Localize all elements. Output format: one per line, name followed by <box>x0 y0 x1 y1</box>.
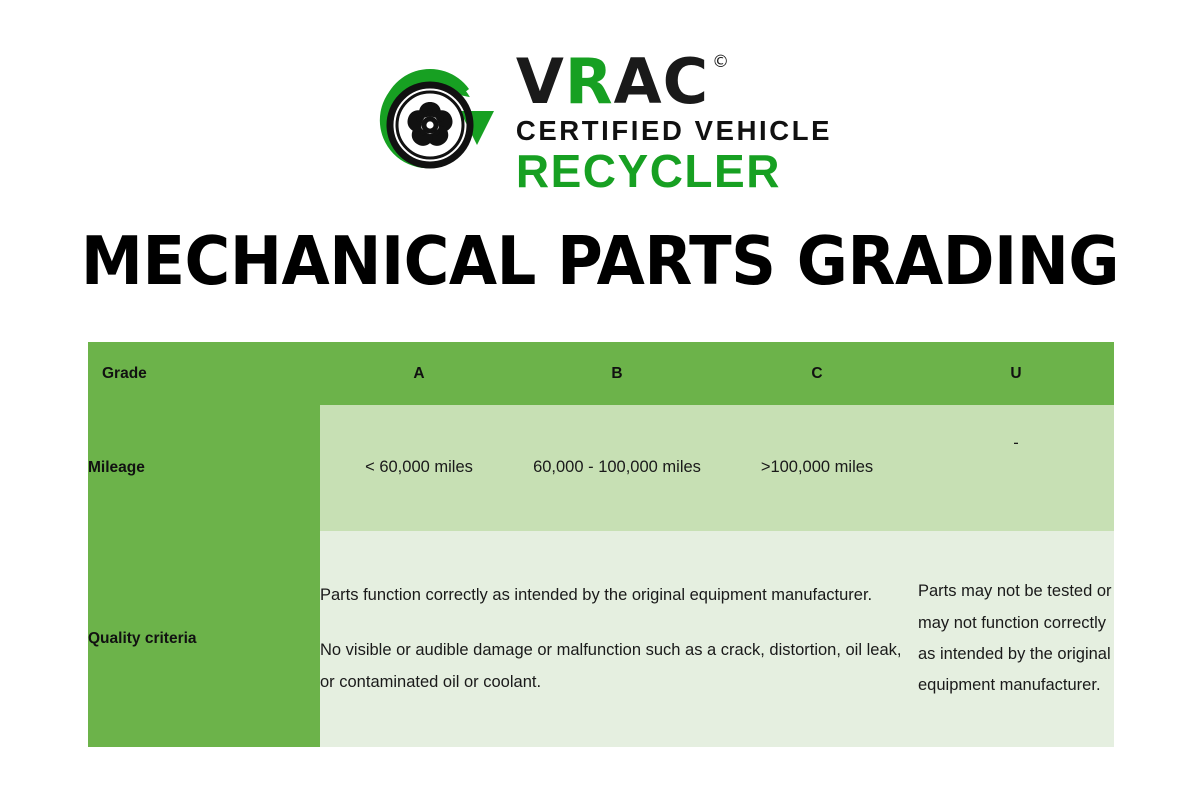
mileage-cell-a: < 60,000 miles <box>320 405 518 531</box>
logo-wordmark: V R A C © <box>516 52 832 112</box>
mechanical-parts-grading-table: Grade A B C U Mileage < 60,000 miles 60,… <box>88 342 1114 747</box>
mileage-cell-b: 60,000 - 100,000 miles <box>518 405 716 531</box>
logo-wordmark-group: V R A C © CERTIFIED VEHICLE RECYCLER <box>516 52 832 193</box>
table-header-row: Grade A B C U <box>88 342 1114 405</box>
logo-inner: V R A C © CERTIFIED VEHICLE RECYCLER <box>368 52 832 193</box>
table-row-quality-criteria: Quality criteria Parts function correctl… <box>88 531 1114 747</box>
logo-letter-v: V <box>516 52 565 112</box>
header-cell-u: U <box>918 342 1114 405</box>
row-label-mileage: Mileage <box>88 405 320 531</box>
header-cell-a: A <box>320 342 518 405</box>
mileage-cell-u: - <box>918 405 1114 531</box>
logo-tagline: CERTIFIED VEHICLE <box>516 117 832 145</box>
mileage-cell-c: >100,000 miles <box>716 405 918 531</box>
logo-letter-r: R <box>565 52 614 112</box>
page-title: MECHANICAL PARTS GRADING <box>42 222 1158 300</box>
quality-cell-u: Parts may not be tested or may not funct… <box>918 531 1114 747</box>
quality-cell-abc: Parts function correctly as intended by … <box>320 531 918 747</box>
logo-subline: RECYCLER <box>516 148 832 194</box>
logo-letter-a: A <box>614 52 663 112</box>
alloy-wheel-recycle-arrow-icon <box>368 55 498 191</box>
table-row-mileage: Mileage < 60,000 miles 60,000 - 100,000 … <box>88 405 1114 531</box>
logo-letter-c: C <box>663 52 710 112</box>
row-label-quality-criteria: Quality criteria <box>88 531 320 747</box>
quality-paragraph-1: Parts function correctly as intended by … <box>320 580 918 611</box>
quality-paragraph-2: No visible or audible damage or malfunct… <box>320 635 918 698</box>
copyright-icon: © <box>712 54 730 71</box>
vrac-logo: V R A C © CERTIFIED VEHICLE RECYCLER <box>0 48 1200 198</box>
header-cell-b: B <box>518 342 716 405</box>
header-cell-grade: Grade <box>88 342 320 405</box>
header-cell-c: C <box>716 342 918 405</box>
